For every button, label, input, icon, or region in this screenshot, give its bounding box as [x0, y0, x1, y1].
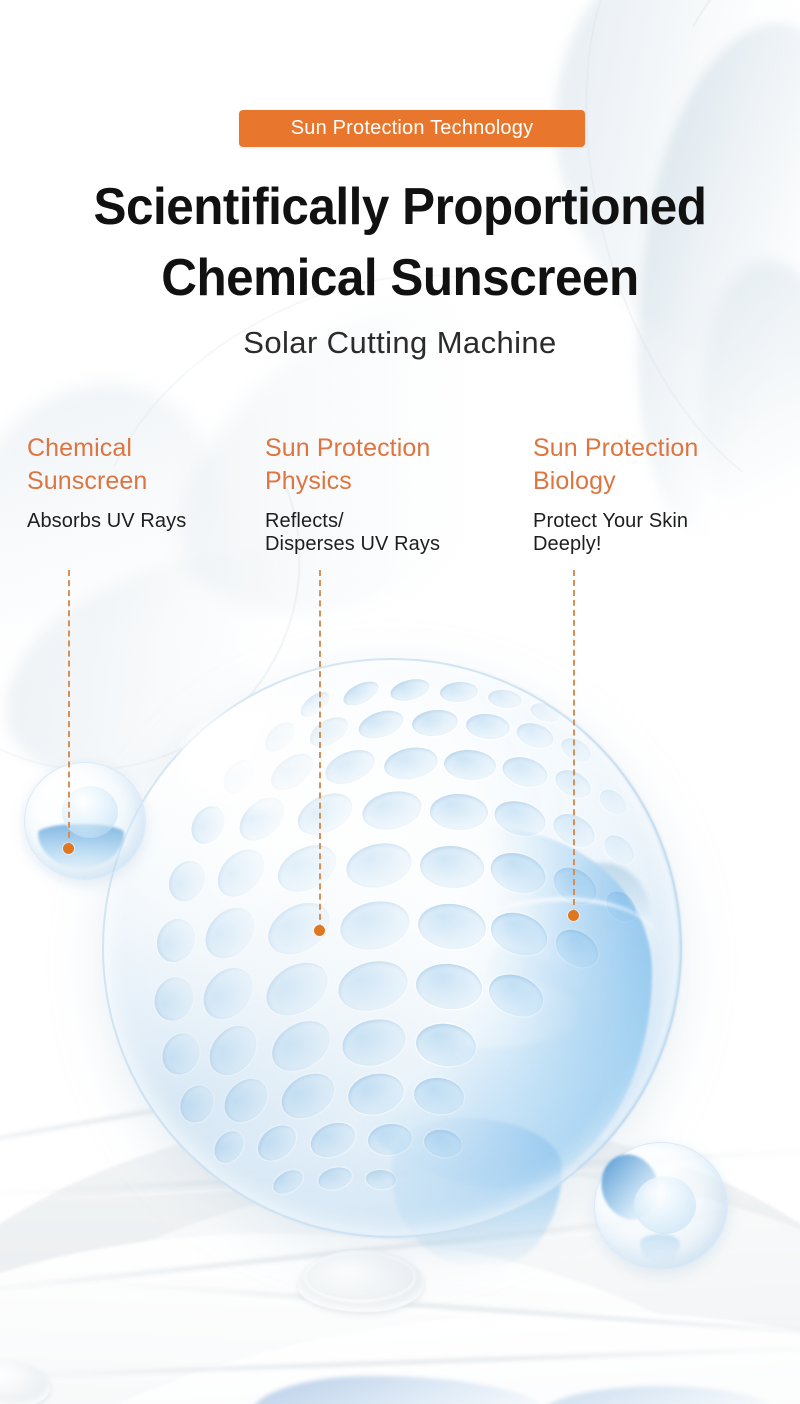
page-title-line-1: Scientifically Proportioned — [20, 172, 780, 243]
feature-description: Absorbs UV Rays — [27, 510, 263, 533]
feature-column-sun-protection-biology: Sun Protection Biology Protect Your Skin… — [533, 432, 783, 556]
page-title-line-2: Chemical Sunscreen — [20, 243, 780, 314]
badge-label: Sun Protection Technology — [291, 117, 534, 140]
feature-column-chemical-sunscreen: Chemical Sunscreen Absorbs UV Rays — [27, 432, 263, 533]
poster-text-content: Sun Protection Technology Scientifically… — [0, 0, 800, 1404]
feature-heading: Sun Protection Biology — [533, 432, 783, 498]
page-subtitle: Solar Cutting Machine — [0, 325, 800, 361]
page-title: Scientifically Proportioned Chemical Sun… — [20, 172, 780, 314]
sun-protection-technology-badge: Sun Protection Technology — [239, 110, 585, 147]
feature-description: Protect Your Skin Deeply! — [533, 510, 783, 556]
feature-column-sun-protection-physics: Sun Protection Physics Reflects/ Dispers… — [265, 432, 513, 556]
feature-heading: Sun Protection Physics — [265, 432, 513, 498]
feature-description: Reflects/ Disperses UV Rays — [265, 510, 513, 556]
feature-heading: Chemical Sunscreen — [27, 432, 263, 498]
sunscreen-product-poster: Sun Protection Technology Scientifically… — [0, 0, 800, 1404]
